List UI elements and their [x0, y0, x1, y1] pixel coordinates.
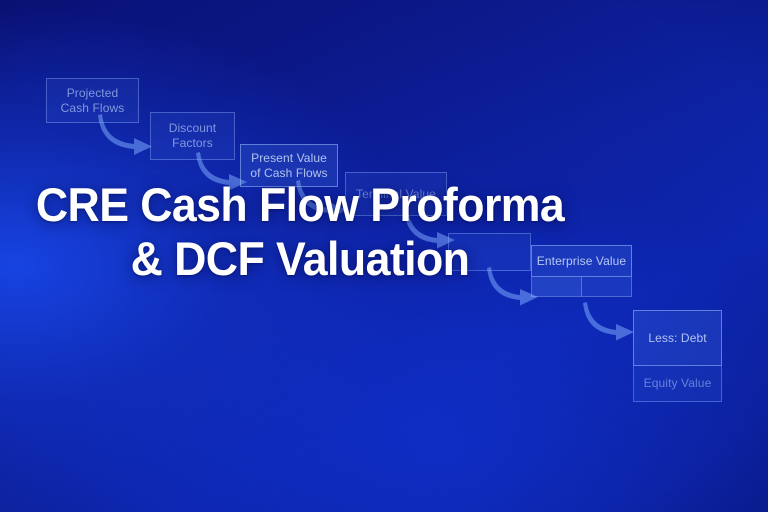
node-label-line-1: Projected [61, 86, 125, 101]
diagram-node-equity-value: Equity Value [633, 366, 722, 402]
node-label-line-1: Less: Debt [648, 331, 706, 346]
node-label-line-1: Discount [169, 121, 217, 136]
enterprise-value-subcell-right [581, 277, 631, 296]
diagram-node-projected-cash-flows: Projected Cash Flows [46, 78, 139, 123]
node-label-line-2: Factors [169, 136, 217, 151]
diagram-node-discount-factors: Discount Factors [150, 112, 235, 160]
slide-title: CRE Cash Flow Proforma & DCF Valuation [15, 178, 585, 285]
slide-canvas: Projected Cash Flows Discount Factors Pr… [0, 0, 768, 512]
node-label-line-1: Present Value [250, 151, 327, 166]
title-line-1: CRE Cash Flow Proforma [15, 178, 585, 232]
flow-arrow-6 [583, 300, 639, 344]
node-label-line-2: Cash Flows [61, 101, 125, 116]
node-label-line-1: Equity Value [644, 376, 712, 391]
diagram-node-less-debt: Less: Debt [633, 310, 722, 366]
title-line-2: & DCF Valuation [15, 232, 585, 286]
